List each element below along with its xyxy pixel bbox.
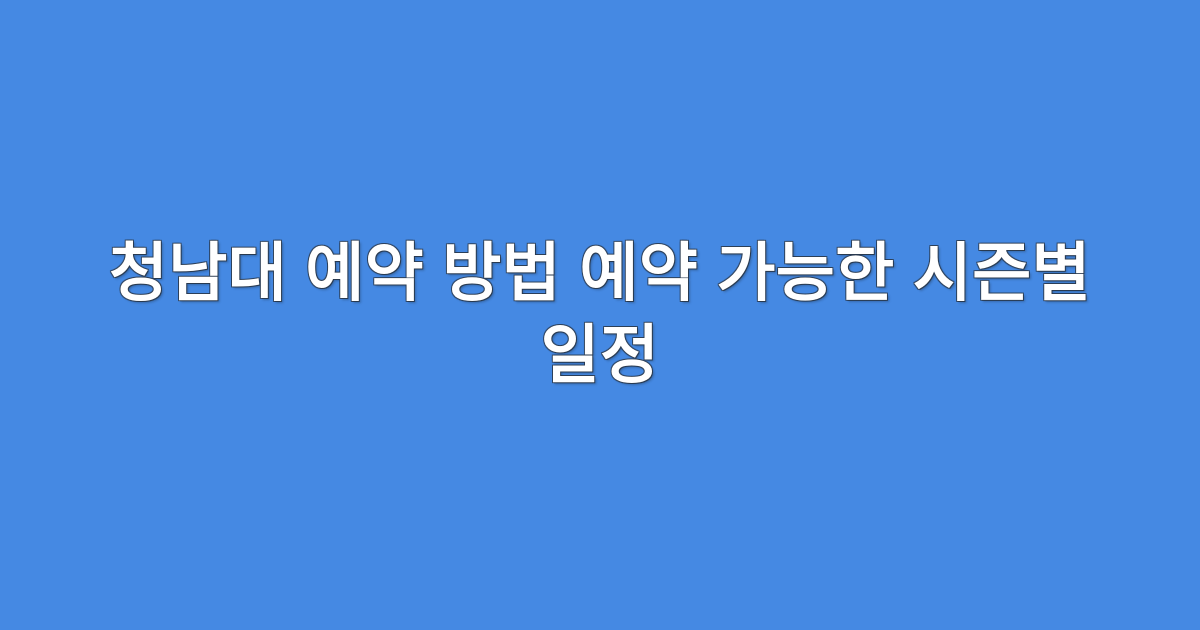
page-title: 청남대 예약 방법 예약 가능한 시즌별 일정 <box>70 233 1130 397</box>
og-image-card: 청남대 예약 방법 예약 가능한 시즌별 일정 <box>0 0 1200 630</box>
title-block: 청남대 예약 방법 예약 가능한 시즌별 일정 <box>60 233 1140 397</box>
